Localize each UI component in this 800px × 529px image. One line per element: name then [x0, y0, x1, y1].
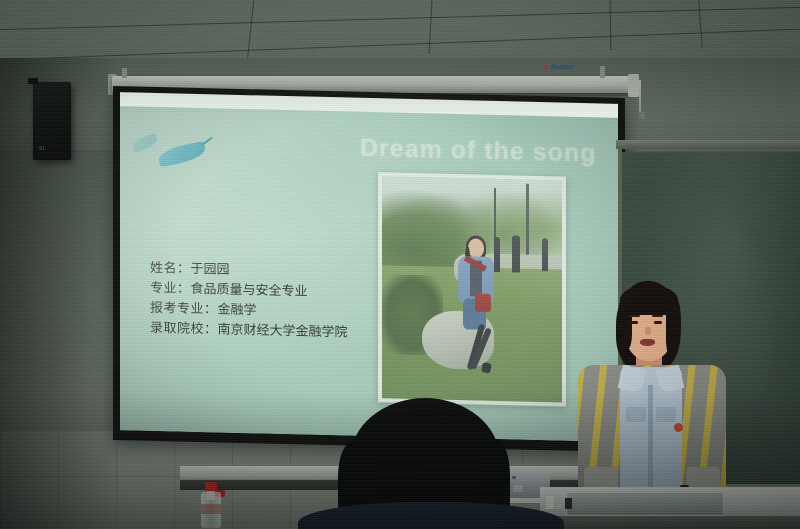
desk-item	[556, 494, 562, 509]
slide-info-label: 姓名：	[150, 261, 191, 277]
feather-icon	[157, 141, 208, 167]
screen-brand-logo: Redleaf	[544, 63, 596, 73]
screen-mount-bracket	[122, 68, 127, 78]
presenter-eye	[654, 321, 662, 324]
presenter-student	[576, 281, 728, 506]
desk-item	[565, 498, 572, 509]
feather-blade	[157, 141, 208, 167]
slide-info-value: 于园园	[191, 262, 230, 278]
seated-audience-member	[336, 398, 524, 529]
shirt-pocket	[626, 407, 646, 422]
shirt-badge-icon	[674, 423, 683, 432]
presentation-slide: Dream of the song	[120, 106, 618, 442]
feather-quill	[201, 137, 213, 146]
screen-mount-bracket	[600, 66, 605, 78]
desk-glass-panel	[566, 492, 724, 516]
shirt-pocket	[656, 407, 676, 422]
desk-items	[546, 492, 576, 510]
slide-info-label: 报考专业：	[150, 301, 218, 318]
presenter-nose	[645, 327, 651, 335]
bottle-cap	[205, 482, 217, 491]
presenter-mouth	[640, 339, 655, 346]
desk-front	[540, 516, 800, 529]
presenter-eye	[630, 321, 638, 324]
feather-blade	[131, 133, 160, 153]
presenter-eyebrow	[629, 315, 640, 317]
presenter-hair-side	[666, 297, 681, 357]
classroom-photo-scene: SL Redleaf Dream of the song	[0, 0, 800, 529]
bottle-label	[201, 504, 221, 514]
feather-icon	[131, 133, 160, 153]
slide-title: Dream of the song	[360, 134, 596, 169]
slide-info-row: 录取院校：南京财经大学金融学院	[150, 319, 348, 344]
projection-surface: Dream of the song	[120, 92, 618, 442]
speaker-bracket	[28, 78, 38, 84]
slide-info-value: 食品质量与安全专业	[191, 282, 308, 300]
brand-dot-icon	[544, 66, 548, 70]
slide-info-value: 南京财经大学金融学院	[218, 322, 348, 340]
slide-info-label: 专业：	[150, 281, 191, 297]
speaker-brand-label: SL	[39, 146, 46, 152]
shirt-placket	[648, 385, 653, 493]
pull-cord-handle[interactable]	[639, 112, 645, 119]
screen-roller-end-right	[628, 74, 639, 97]
water-bottle-left	[201, 482, 221, 528]
photo-haze-overlay	[382, 176, 562, 402]
chalkboard-top-rail	[616, 140, 800, 149]
brand-name-label: Redleaf	[551, 65, 574, 71]
slide-info-block: 姓名：于园园 专业：食品质量与安全专业 报考专业：金融学 录取院校：南京财经大学…	[150, 259, 348, 344]
slide-info-label: 录取院校：	[150, 321, 218, 338]
presenter-eyebrow	[652, 315, 663, 317]
slide-photo-image	[382, 176, 562, 402]
bottle-neck	[207, 490, 215, 500]
wall-speaker: SL	[33, 82, 71, 160]
slide-photo	[378, 172, 566, 406]
desk-item	[546, 496, 554, 509]
slide-info-value: 金融学	[218, 302, 257, 318]
pull-cord[interactable]	[639, 80, 641, 114]
